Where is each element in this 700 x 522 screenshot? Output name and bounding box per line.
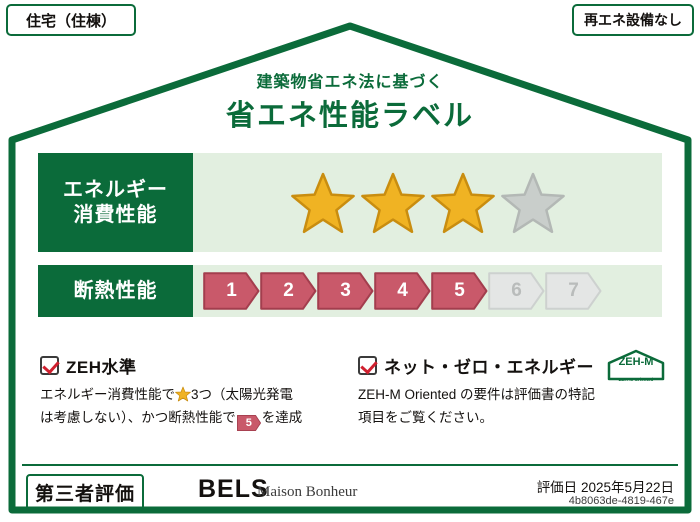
zeh-standard-heading: ZEH水準 <box>40 352 340 378</box>
star-filled-icon <box>431 171 495 235</box>
zeh-body-part1: エネルギー消費性能で <box>40 387 175 402</box>
energy-star-rating-panel <box>193 153 662 252</box>
energy-performance-row-label: エネルギー 消費性能 <box>38 153 193 252</box>
insulation-grade-6: 6 <box>488 272 545 310</box>
star-empty-icon <box>501 171 565 235</box>
insulation-grade-1: 1 <box>203 272 260 310</box>
insulation-grade-value: 4 <box>397 280 408 302</box>
insulation-performance-row-label: 断熱性能 <box>38 265 193 317</box>
insulation-grade-4: 4 <box>374 272 431 310</box>
zeh-body-part2: （太陽光発電 <box>212 387 293 402</box>
zeh-m-badge-icon: ZEH-M ZEH-M Oriented <box>607 349 665 381</box>
insulation-grade-panel: 1234567 <box>193 265 662 317</box>
zeh-body-part4: を達成 <box>262 410 303 425</box>
zeh-m-badge-top: ZEH-M <box>619 356 654 368</box>
insulation-grade-value: 7 <box>568 280 579 302</box>
energy-performance-label: 住宅（住棟） 再エネ設備なし 建築物省エネ法に基づく 省エネ性能ラベル エネルギ… <box>0 0 700 522</box>
insulation-grade-value: 2 <box>283 280 294 302</box>
net-zero-energy-block: ネット・ゼロ・エネルギー ZEH-M ZEH-M Oriented ZEH-M … <box>358 352 668 430</box>
insulation-grade-7: 7 <box>545 272 602 310</box>
net-zero-heading: ネット・ゼロ・エネルギー ZEH-M ZEH-M Oriented <box>358 352 668 378</box>
label-title: 省エネ性能ラベル <box>8 92 692 134</box>
zeh-body-part3: は考慮しない）、かつ断熱性能で <box>40 410 236 425</box>
insulation-grade-2: 2 <box>260 272 317 310</box>
energy-label-line2: 消費性能 <box>74 203 158 228</box>
check-icon <box>40 356 59 375</box>
small-star-icon <box>175 386 191 402</box>
insulation-grade-5: 5 <box>431 272 488 310</box>
house-shape-container: 建築物省エネ法に基づく 省エネ性能ラベル エネルギー 消費性能 断熱性能 123… <box>8 22 692 514</box>
insulation-grade-value: 6 <box>511 280 522 302</box>
star-filled-icon <box>361 171 425 235</box>
energy-label-line1: エネルギー <box>63 178 168 203</box>
net-zero-body-line1: ZEH-M Oriented の要件は評価書の特記 <box>358 387 595 402</box>
insulation-grade-value: 5 <box>454 280 465 302</box>
third-party-evaluation-badge: 第三者評価 <box>26 474 144 511</box>
zeh-body-stars: 3つ <box>191 387 212 402</box>
star-filled-icon <box>291 171 355 235</box>
zeh-standard-title: ZEH水準 <box>66 353 137 378</box>
insulation-label-text: 断熱性能 <box>74 279 158 304</box>
check-icon <box>358 356 377 375</box>
insulation-grade-value: 3 <box>340 280 351 302</box>
evaluation-id: 4b8063de-4819-467e <box>569 495 674 507</box>
small-grade-value: 5 <box>237 415 261 432</box>
zeh-standard-block: ZEH水準 エネルギー消費性能で3つ（太陽光発電 は考慮しない）、かつ断熱性能で… <box>40 352 340 432</box>
label-subtitle: 建築物省エネ法に基づく <box>8 68 692 92</box>
evaluation-date: 評価日 2025年5月22日 <box>537 476 674 496</box>
footer-divider <box>22 464 678 466</box>
net-zero-title: ネット・ゼロ・エネルギー <box>384 353 594 378</box>
house-content: 建築物省エネ法に基づく 省エネ性能ラベル エネルギー 消費性能 断熱性能 123… <box>8 22 692 514</box>
net-zero-body: ZEH-M Oriented の要件は評価書の特記 項目をご覧ください。 <box>358 384 668 430</box>
zeh-m-badge-sub: ZEH-M Oriented <box>619 377 654 382</box>
company-name: Maison Bonheur <box>257 484 357 501</box>
net-zero-body-line2: 項目をご覧ください。 <box>358 410 493 425</box>
label-footer: 第三者評価 BELS Maison Bonheur 評価日 2025年5月22日… <box>22 468 678 508</box>
insulation-grade-3: 3 <box>317 272 374 310</box>
zeh-standard-body: エネルギー消費性能で3つ（太陽光発電 は考慮しない）、かつ断熱性能で5を達成 <box>40 384 340 432</box>
small-grade-badge: 5 <box>237 415 261 432</box>
insulation-grade-value: 1 <box>226 280 237 302</box>
